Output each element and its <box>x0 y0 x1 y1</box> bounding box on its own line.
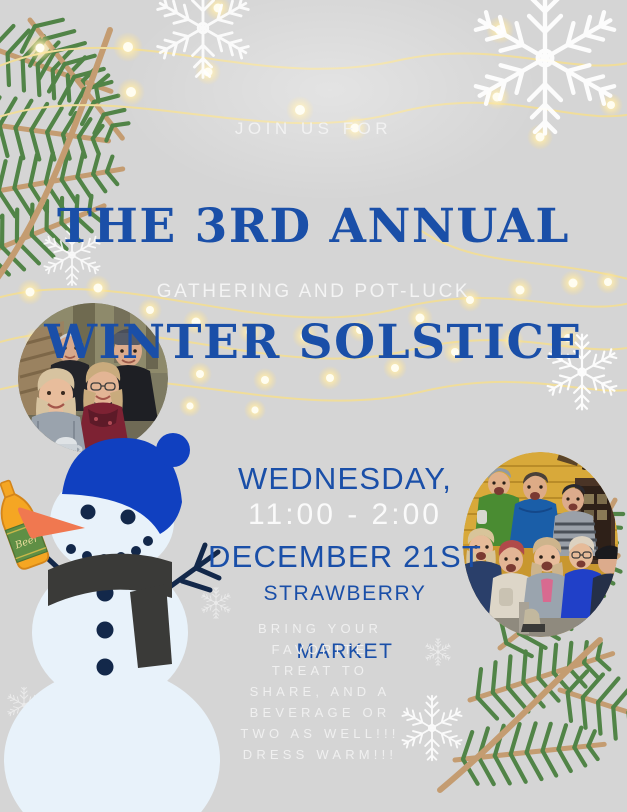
bottle-label-text: Beer <box>13 533 41 552</box>
snowman-smile <box>66 536 153 564</box>
title-line-2: WINTER SOLSTICE <box>0 314 627 372</box>
snowman-eye-left <box>81 505 96 520</box>
svg-text:SHOP: SHOP <box>581 459 618 474</box>
snowflake-bottom-left <box>7 687 41 722</box>
snowman-face <box>18 505 153 565</box>
eyebrow-text: JOIN US FOR <box>0 119 627 139</box>
beer-bottle-icon: Beer <box>0 476 50 571</box>
venue-line-1: STRAWBERRY <box>180 579 510 608</box>
winter-solstice-flyer: SHOP <box>0 0 627 812</box>
snowflake-top-center <box>155 0 251 77</box>
title-line-1: THE 3RD ANNUAL <box>0 198 627 256</box>
snowflake-large-top-right <box>472 0 619 133</box>
event-time: 11:00 - 2:00 <box>150 498 540 532</box>
snowman-buttons <box>97 585 114 676</box>
snowman-eye-right <box>121 510 136 525</box>
subtitle-text: GATHERING AND POT-LUCK <box>0 281 627 303</box>
event-instructions: BRING YOUR FAVORITE TREAT TO SHARE, AND … <box>200 618 440 765</box>
snowman-nose-carrot <box>18 508 85 539</box>
date-line-1: WEDNESDAY, <box>150 459 540 498</box>
